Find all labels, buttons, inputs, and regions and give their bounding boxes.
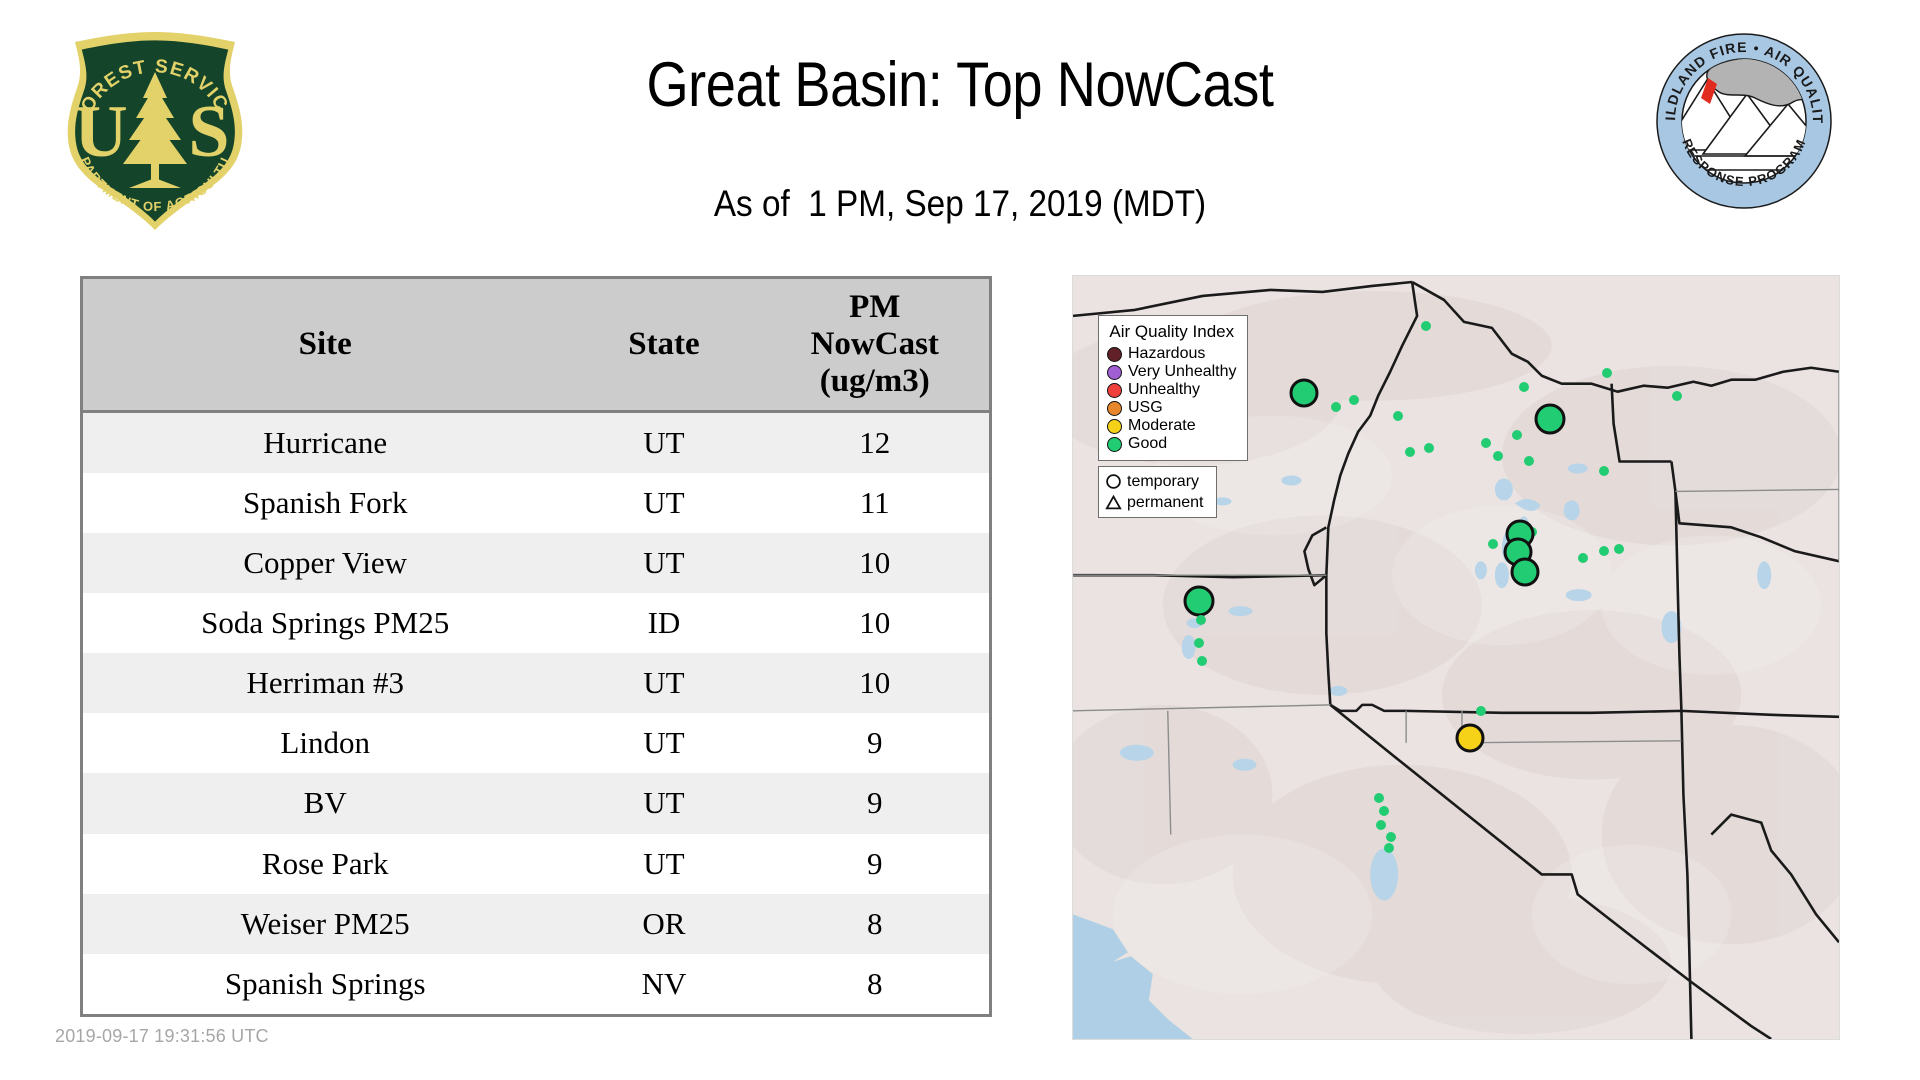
aqi-swatch-icon <box>1107 383 1122 398</box>
cell-state: OR <box>567 894 760 954</box>
cell-pm-nowcast: 12 <box>761 411 989 473</box>
aqi-legend-row: Moderate <box>1107 417 1237 435</box>
table-row: Soda Springs PM25ID10 <box>83 593 989 653</box>
cell-state: UT <box>567 411 760 473</box>
table-header: Site State PM NowCast (ug/m3) <box>83 279 989 411</box>
aqi-legend-title: Air Quality Index <box>1107 322 1237 342</box>
cell-state: UT <box>567 773 760 833</box>
aqi-legend-label: Moderate <box>1128 418 1196 434</box>
column-header-state: State <box>567 279 760 411</box>
monitor-marker[interactable] <box>1578 553 1588 563</box>
aqi-legend-row: Unhealthy <box>1107 381 1237 399</box>
cell-state: ID <box>567 593 760 653</box>
column-header-pm-line2: NowCast <box>765 326 985 363</box>
column-header-site: Site <box>83 279 567 411</box>
monitor-marker[interactable] <box>1196 615 1206 625</box>
aqi-legend-label: USG <box>1128 400 1163 416</box>
monitor-marker[interactable] <box>1599 466 1609 476</box>
monitor-marker[interactable] <box>1512 559 1538 585</box>
aqi-legend-label: Hazardous <box>1128 346 1205 362</box>
cell-site: Lindon <box>83 713 567 773</box>
air-quality-map[interactable]: Air Quality Index HazardousVery Unhealth… <box>1072 275 1840 1040</box>
monitor-marker[interactable] <box>1291 380 1317 406</box>
nowcast-table-container: Site State PM NowCast (ug/m3) HurricaneU… <box>80 276 992 1017</box>
monitor-marker[interactable] <box>1194 638 1204 648</box>
monitor-marker[interactable] <box>1599 546 1609 556</box>
aqi-legend-row: Very Unhealthy <box>1107 363 1237 381</box>
cell-pm-nowcast: 10 <box>761 653 989 713</box>
cell-site: BV <box>83 773 567 833</box>
monitor-marker[interactable] <box>1488 539 1498 549</box>
cell-site: Weiser PM25 <box>83 894 567 954</box>
table-header-row: Site State PM NowCast (ug/m3) <box>83 279 989 411</box>
aqi-legend-label: Good <box>1128 436 1167 452</box>
page-title: Great Basin: Top NowCast <box>134 52 1785 118</box>
column-header-pm-nowcast: PM NowCast (ug/m3) <box>761 279 989 411</box>
aqi-swatch-icon <box>1107 419 1122 434</box>
monitor-marker[interactable] <box>1493 451 1503 461</box>
monitor-marker[interactable] <box>1519 382 1529 392</box>
monitor-marker[interactable] <box>1614 544 1624 554</box>
footer-timestamp: 2019-09-17 19:31:56 UTC <box>55 1026 269 1047</box>
cell-site: Herriman #3 <box>83 653 567 713</box>
cell-state: UT <box>567 713 760 773</box>
legend-row-permanent: permanent <box>1105 492 1204 513</box>
cell-site: Spanish Springs <box>83 954 567 1014</box>
column-header-pm-line1: PM <box>765 289 985 326</box>
aqi-legend: Air Quality Index HazardousVery Unhealth… <box>1098 315 1248 461</box>
aqi-legend-label: Unhealthy <box>1128 382 1200 398</box>
monitor-marker[interactable] <box>1374 793 1384 803</box>
monitor-marker[interactable] <box>1331 402 1341 412</box>
cell-pm-nowcast: 9 <box>761 834 989 894</box>
monitor-marker[interactable] <box>1421 321 1431 331</box>
aqi-legend-row: USG <box>1107 399 1237 417</box>
monitor-marker[interactable] <box>1384 843 1394 853</box>
monitor-marker[interactable] <box>1393 411 1403 421</box>
column-header-pm-line3: (ug/m3) <box>765 363 985 400</box>
cell-pm-nowcast: 9 <box>761 773 989 833</box>
cell-state: UT <box>567 834 760 894</box>
aqi-legend-row: Hazardous <box>1107 345 1237 363</box>
monitor-marker[interactable] <box>1512 430 1522 440</box>
cell-site: Rose Park <box>83 834 567 894</box>
cell-pm-nowcast: 8 <box>761 894 989 954</box>
cell-state: NV <box>567 954 760 1014</box>
table-row: Copper ViewUT10 <box>83 533 989 593</box>
monitor-marker[interactable] <box>1424 443 1434 453</box>
table-row: Spanish ForkUT11 <box>83 473 989 533</box>
monitor-marker[interactable] <box>1481 438 1491 448</box>
cell-site: Hurricane <box>83 411 567 473</box>
aqi-legend-label: Very Unhealthy <box>1128 364 1237 380</box>
monitor-marker[interactable] <box>1349 395 1359 405</box>
cell-pm-nowcast: 10 <box>761 533 989 593</box>
table-row: Rose ParkUT9 <box>83 834 989 894</box>
table-row: Weiser PM25OR8 <box>83 894 989 954</box>
monitor-marker[interactable] <box>1457 725 1483 751</box>
cell-state: UT <box>567 473 760 533</box>
monitor-marker[interactable] <box>1405 447 1415 457</box>
monitor-marker[interactable] <box>1672 391 1682 401</box>
table-row: BVUT9 <box>83 773 989 833</box>
table-row: LindonUT9 <box>83 713 989 773</box>
cell-site: Soda Springs PM25 <box>83 593 567 653</box>
legend-label-permanent: permanent <box>1127 495 1204 511</box>
monitor-marker[interactable] <box>1476 706 1486 716</box>
cell-pm-nowcast: 10 <box>761 593 989 653</box>
nowcast-table: Site State PM NowCast (ug/m3) HurricaneU… <box>83 279 989 1014</box>
cell-state: UT <box>567 653 760 713</box>
monitor-marker[interactable] <box>1185 587 1213 615</box>
page-subtitle: As of 1 PM, Sep 17, 2019 (MDT) <box>96 183 1824 225</box>
cell-pm-nowcast: 9 <box>761 713 989 773</box>
cell-site: Spanish Fork <box>83 473 567 533</box>
table-body: HurricaneUT12Spanish ForkUT11Copper View… <box>83 411 989 1013</box>
station-type-legend: temporary permanent <box>1098 466 1217 518</box>
cell-site: Copper View <box>83 533 567 593</box>
cell-pm-nowcast: 11 <box>761 473 989 533</box>
aqi-legend-items: HazardousVery UnhealthyUnhealthyUSGModer… <box>1107 345 1237 453</box>
monitor-marker[interactable] <box>1524 456 1534 466</box>
cell-pm-nowcast: 8 <box>761 954 989 1014</box>
monitor-marker[interactable] <box>1379 806 1389 816</box>
cell-state: UT <box>567 533 760 593</box>
table-row: Spanish SpringsNV8 <box>83 954 989 1014</box>
triangle-icon <box>1105 494 1122 511</box>
monitor-marker[interactable] <box>1602 368 1612 378</box>
monitor-marker[interactable] <box>1197 656 1207 666</box>
aqi-swatch-icon <box>1107 437 1122 452</box>
legend-label-temporary: temporary <box>1127 474 1199 490</box>
aqi-swatch-icon <box>1107 401 1122 416</box>
monitor-marker[interactable] <box>1386 832 1396 842</box>
aqi-swatch-icon <box>1107 347 1122 362</box>
table-row: HurricaneUT12 <box>83 411 989 473</box>
aqi-swatch-icon <box>1107 365 1122 380</box>
monitor-marker[interactable] <box>1536 405 1564 433</box>
circle-icon <box>1105 473 1122 490</box>
table-row: Herriman #3UT10 <box>83 653 989 713</box>
monitor-marker[interactable] <box>1376 820 1386 830</box>
aqi-legend-row: Good <box>1107 435 1237 453</box>
legend-row-temporary: temporary <box>1105 471 1204 492</box>
